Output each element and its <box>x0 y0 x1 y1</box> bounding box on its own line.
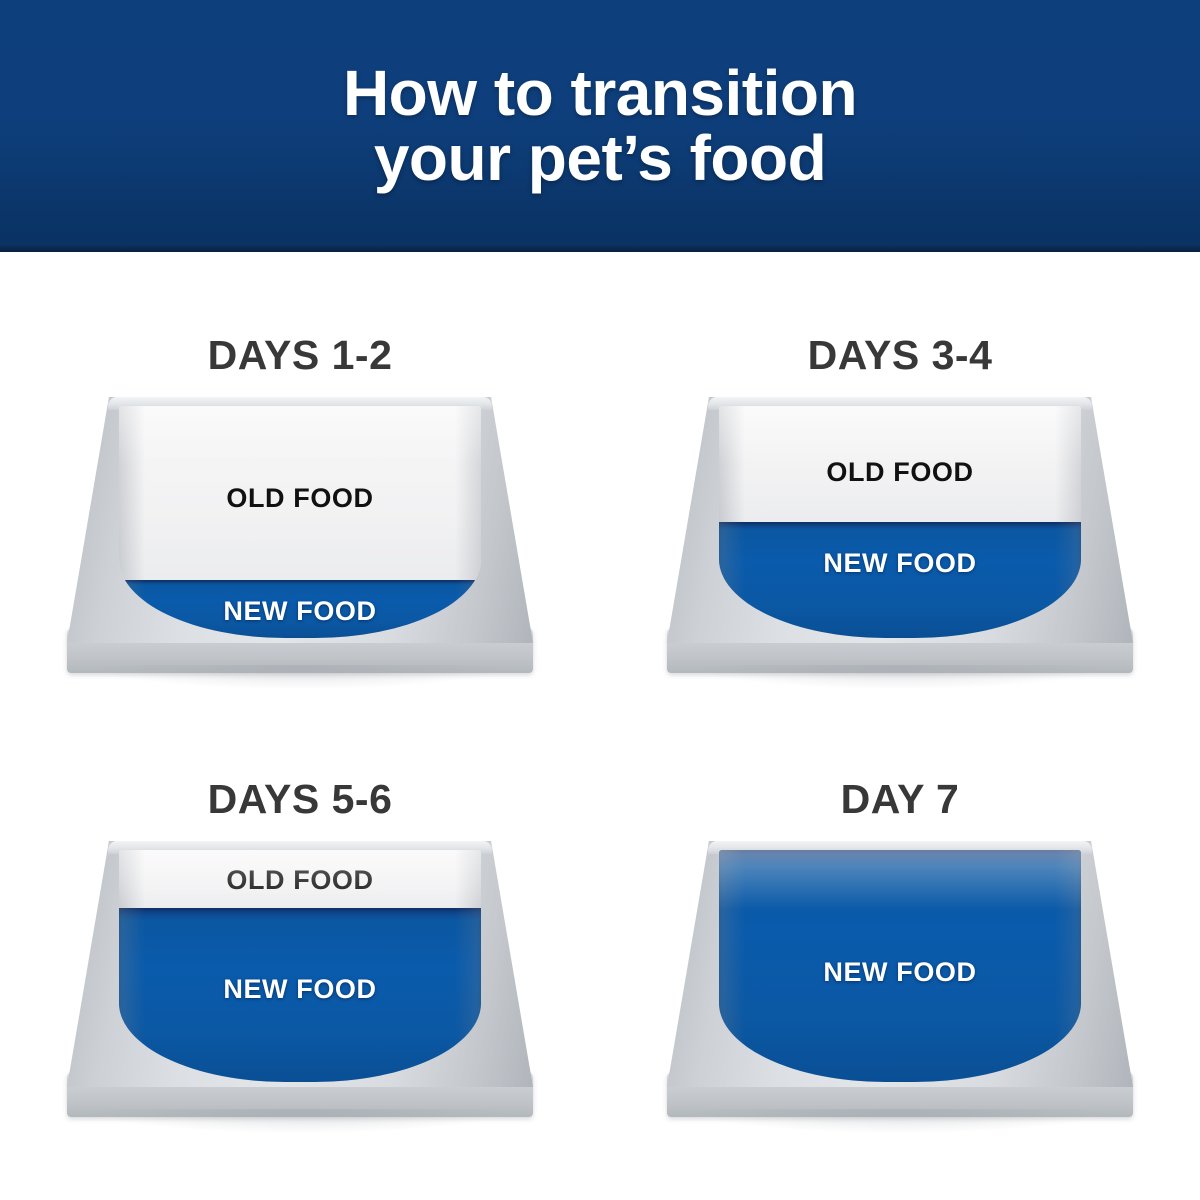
new-food-fill: NEW FOOD <box>719 850 1081 1082</box>
stage-days-5-6: DAYS 5-6 OLD FOOD NEW FOOD <box>0 726 600 1200</box>
stage-days-1-2: DAYS 1-2 OLD FOOD NEW FOOD <box>0 252 600 726</box>
new-food-label: NEW FOOD <box>719 957 1081 988</box>
stage-label-days-1-2: DAYS 1-2 <box>208 332 393 379</box>
transition-stage-grid: DAYS 1-2 OLD FOOD NEW FOOD DAYS 3-4 <box>0 252 1200 1200</box>
old-food-fill: OLD FOOD <box>119 850 481 908</box>
food-bowl-days-5-6: OLD FOOD NEW FOOD <box>67 841 533 1121</box>
stage-label-days-5-6: DAYS 5-6 <box>208 776 393 823</box>
food-bowl-day-7: NEW FOOD <box>667 841 1133 1121</box>
bowl-interior-well: OLD FOOD NEW FOOD <box>119 850 481 1082</box>
bowl-interior-well: OLD FOOD NEW FOOD <box>719 406 1081 638</box>
bowl-interior-well: OLD FOOD NEW FOOD <box>119 406 481 638</box>
header-banner: How to transition your pet’s food <box>0 0 1200 252</box>
old-food-label: OLD FOOD <box>119 865 481 896</box>
stage-label-days-3-4: DAYS 3-4 <box>808 332 993 379</box>
old-food-fill: OLD FOOD <box>719 406 1081 522</box>
food-bowl-days-1-2: OLD FOOD NEW FOOD <box>67 397 533 677</box>
new-food-fill: NEW FOOD <box>119 908 481 1082</box>
stage-days-3-4: DAYS 3-4 OLD FOOD NEW FOOD <box>600 252 1200 726</box>
page-title: How to transition your pet’s food <box>303 61 897 192</box>
old-food-fill: OLD FOOD <box>119 406 481 580</box>
old-food-label: OLD FOOD <box>719 457 1081 488</box>
stage-day-7: DAY 7 NEW FOOD <box>600 726 1200 1200</box>
new-food-fill: NEW FOOD <box>719 522 1081 638</box>
old-food-label: OLD FOOD <box>119 483 481 514</box>
new-food-fill: NEW FOOD <box>119 580 481 638</box>
new-food-label: NEW FOOD <box>119 596 481 627</box>
new-food-label: NEW FOOD <box>119 974 481 1005</box>
food-bowl-days-3-4: OLD FOOD NEW FOOD <box>667 397 1133 677</box>
stage-label-day-7: DAY 7 <box>841 776 960 823</box>
new-food-label: NEW FOOD <box>719 548 1081 579</box>
bowl-interior-well: NEW FOOD <box>719 850 1081 1082</box>
